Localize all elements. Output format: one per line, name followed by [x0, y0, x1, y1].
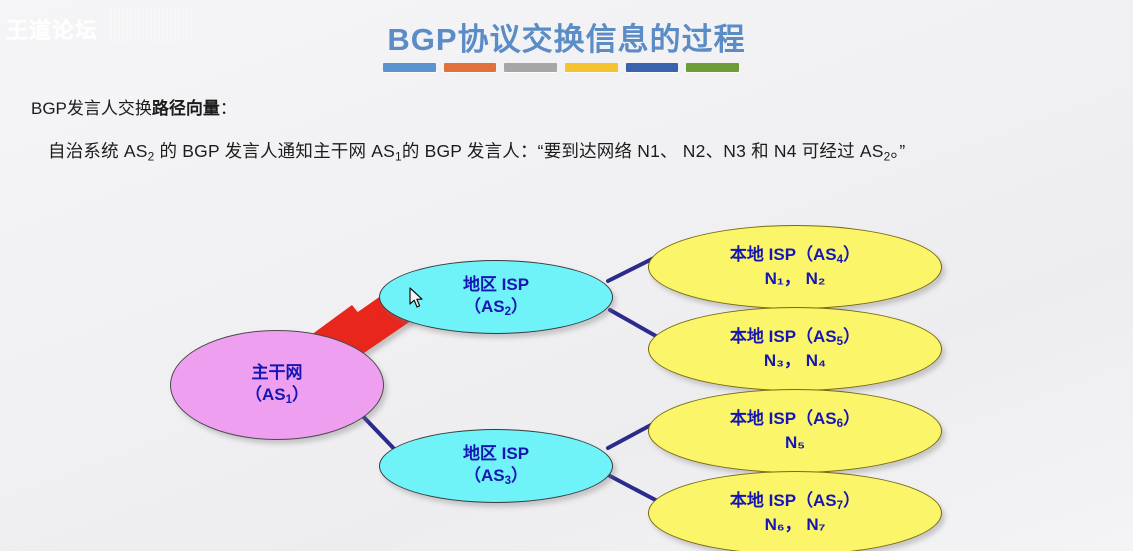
node-as4-networks: N₁， N₂ — [765, 268, 826, 290]
node-as1-line2: （AS1） — [245, 384, 309, 408]
node-as3-line1: 地区 ISP — [463, 443, 529, 465]
node-as6-networks: N₅ — [785, 432, 805, 454]
node-as7-line1-pre: 本地 ISP（AS — [730, 491, 837, 510]
node-as3-line2: （AS3） — [464, 465, 528, 489]
node-as1-line2-pre: （AS — [245, 385, 286, 404]
node-as5-line1: 本地 ISP（AS5） — [730, 326, 860, 350]
node-as2-line2-pre: （AS — [464, 297, 505, 316]
node-as1-line1: 主干网 — [252, 362, 303, 384]
node-as6-line1-pre: 本地 ISP（AS — [730, 409, 837, 428]
node-as5-networks: N₃， N₄ — [764, 350, 826, 372]
node-as3-region[interactable]: 地区 ISP （AS3） — [379, 429, 613, 503]
node-as2-region[interactable]: 地区 ISP （AS2） — [379, 260, 613, 334]
node-as6-line1-post: ） — [843, 409, 860, 428]
node-as4-line1-pre: 本地 ISP（AS — [730, 245, 837, 264]
node-as5-line1-post: ） — [843, 327, 860, 346]
node-as2-line2-post: ） — [511, 297, 528, 316]
node-as7-line1: 本地 ISP（AS7） — [730, 490, 860, 514]
node-as5-line1-pre: 本地 ISP（AS — [730, 327, 837, 346]
node-as5-local[interactable]: 本地 ISP（AS5） N₃， N₄ — [648, 307, 942, 391]
node-as1-line2-post: ） — [292, 385, 309, 404]
node-as3-line2-post: ） — [511, 466, 528, 485]
node-as6-local[interactable]: 本地 ISP（AS6） N₅ — [648, 389, 942, 473]
node-as6-line1: 本地 ISP（AS6） — [730, 408, 860, 432]
node-as7-local[interactable]: 本地 ISP（AS7） N₆， N₇ — [648, 471, 942, 551]
node-as2-line2: （AS2） — [464, 296, 528, 320]
node-as7-networks: N₆， N₇ — [765, 514, 826, 536]
node-as3-line2-pre: （AS — [464, 466, 505, 485]
node-as4-line1-post: ） — [843, 245, 860, 264]
node-as2-line1: 地区 ISP — [463, 274, 529, 296]
slide-canvas: 王道论坛 BGP协议交换信息的过程 BGP发言人交换路径向量： 自治系统 AS2… — [0, 0, 1133, 551]
node-as1-backbone[interactable]: 主干网 （AS1） — [170, 330, 384, 440]
node-as4-line1: 本地 ISP（AS4） — [730, 244, 860, 268]
node-as4-local[interactable]: 本地 ISP（AS4） N₁， N₂ — [648, 225, 942, 309]
node-as7-line1-post: ） — [843, 491, 860, 510]
